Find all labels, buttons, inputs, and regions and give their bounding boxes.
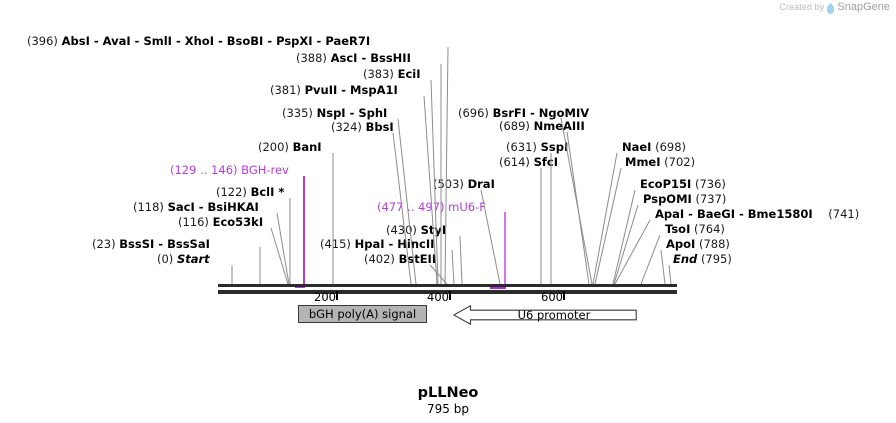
enzyme-label-row[interactable]: (118) SacI - BsiHKAI [133,201,259,214]
primer-range: (129 .. 146) [170,163,238,177]
enzyme-position: (335) [282,106,313,120]
enzyme-name: PvuII [305,83,338,97]
enzyme-name: BsrFI [493,106,526,120]
watermark-prefix: Created by [779,2,824,12]
enzyme-name: SfcI [534,155,558,169]
marker-position: (795) [701,252,732,266]
primer-range: (477 .. 497) [377,200,445,214]
enzyme-position: (396) [27,34,58,48]
enzyme-name: DraI [468,177,495,191]
leader-line [593,153,617,284]
marker-name: End [673,252,697,266]
enzyme-name: BssSaI [167,237,210,251]
marker-label-start[interactable]: (0) Start [157,253,210,266]
feature-u6-promoter[interactable]: U6 promoter [453,305,637,325]
enzyme-name: NaeI [622,140,651,154]
primer-label-bgh-rev[interactable]: (129 .. 146) BGH-rev [170,164,289,177]
leader-line [271,228,288,284]
enzyme-name: BclI * [251,185,285,199]
enzyme-label-row[interactable]: ApoI (788) [666,238,730,251]
enzyme-name: AscI [331,51,358,65]
enzyme-name: HincII [397,237,434,251]
leader-line [277,213,289,284]
enzyme-label-row[interactable]: (614) SfcI [499,156,558,169]
enzyme-label-row[interactable]: (503) DraI [433,178,495,191]
enzyme-name: NgoMIV [539,106,589,120]
enzyme-label-row[interactable]: EcoP15I (736) [640,178,726,191]
enzyme-position: (788) [699,237,730,251]
enzyme-position: (118) [133,200,164,214]
enzyme-name: NmeAIII [534,119,585,133]
enzyme-name: NspI [317,106,346,120]
enzyme-label-row[interactable]: (396) AbsI - AvaI - SmlI - XhoI - BsoBI … [27,35,370,48]
ruler-tick-mark [563,291,565,300]
enzyme-name: ApaI [655,207,684,221]
enzyme-position: (631) [506,140,537,154]
enzyme-name: StyI [421,223,447,237]
enzyme-name: ApoI [666,237,695,251]
enzyme-position: (430) [386,223,417,237]
ruler-tick-mark [449,291,451,300]
ruler-tick-mark [336,291,338,300]
enzyme-label-row[interactable]: (335) NspI - SphI [282,107,387,120]
enzyme-position: (324) [331,120,362,134]
leader-line [452,250,454,284]
enzyme-label-row[interactable]: (116) Eco53kI [178,216,263,229]
enzyme-label-row[interactable]: TsoI (764) [665,223,725,236]
leader-line [567,132,589,284]
enzyme-label-row[interactable]: NaeI (698) [622,141,686,154]
enzyme-name: BaeGI [697,207,735,221]
enzyme-label-row[interactable]: ApaI - BaeGI - Bme1580I (741) [655,208,859,221]
enzyme-name: EciI [398,67,421,81]
enzyme-label-row[interactable]: (381) PvuII - MspA1I [270,84,398,97]
enzyme-position: (415) [320,237,351,251]
enzyme-position: (689) [499,119,530,133]
enzyme-label-row[interactable]: (23) BssSI - BssSaI [92,238,210,251]
enzyme-position: (737) [695,192,726,206]
enzyme-position: (503) [433,177,464,191]
enzyme-name: BssHII [370,51,411,65]
enzyme-name: Bme1580I [748,207,813,221]
enzyme-label-row[interactable]: MmeI (702) [625,156,695,169]
marker-position: (0) [157,252,173,266]
enzyme-name: EcoP15I [640,177,691,191]
sequence-backbone-top-strand[interactable] [218,284,677,287]
enzyme-label-row[interactable]: (689) NmeAIII [499,120,585,133]
primer-label-mu6-f[interactable]: (477 .. 497) mU6-F [377,201,486,214]
enzyme-position: (23) [92,237,116,251]
ruler-tick-label: 400 [427,291,449,303]
snapgene-logo-icon [827,3,834,14]
enzyme-name: BanI [293,140,322,154]
watermark-brand: SnapGene [837,1,890,13]
enzyme-position: (696) [458,106,489,120]
enzyme-name: XhoI [185,34,214,48]
enzyme-position: (383) [363,67,394,81]
enzyme-name: BsoBI [227,34,264,48]
enzyme-position: (388) [296,51,327,65]
marker-name: Start [177,252,210,266]
enzyme-name: SphI [358,106,387,120]
enzyme-label-row[interactable]: (200) BanI [258,141,322,154]
enzyme-position: (702) [664,155,695,169]
leader-line [661,250,665,284]
enzyme-label-row[interactable]: (402) BstEII [364,253,436,266]
snapgene-watermark: Created by SnapGene [779,1,890,13]
primer-name: mU6-F [448,200,486,214]
leader-line [641,235,660,284]
leader-line [613,190,635,284]
enzyme-name: SacI [168,200,195,214]
enzyme-label-row[interactable]: (324) BbsI [331,121,394,134]
enzyme-name: HpaI [355,237,385,251]
enzyme-position: (200) [258,140,289,154]
feature-label: U6 promoter [453,305,637,325]
enzyme-position: (614) [499,155,530,169]
enzyme-name: Eco53kI [213,215,264,229]
enzyme-label-row[interactable]: (122) BclI * [216,186,284,199]
enzyme-position: (764) [694,222,725,236]
leader-line [614,205,638,284]
marker-label-end[interactable]: End (795) [673,253,732,266]
leader-line [595,168,621,284]
plasmid-map-canvas: Created by SnapGene (396) AbsI - AvaI - … [0,0,896,423]
leader-line [460,236,462,284]
enzyme-position: (381) [270,83,301,97]
leader-line [615,220,650,284]
enzyme-name: MspA1I [350,83,398,97]
enzyme-name: AvaI [103,34,131,48]
enzyme-name: SmlI [143,34,172,48]
enzyme-name: BstEII [399,252,437,266]
enzyme-name: PspOMI [643,192,692,206]
ruler-tick-label: 600 [541,291,563,303]
enzyme-label-row[interactable]: (430) StyI [386,224,446,237]
enzyme-name: TsoI [665,222,690,236]
enzyme-position: (736) [695,177,726,191]
leader-line [430,265,447,284]
enzyme-position: (741) [828,207,859,221]
feature-label: bGH poly(A) signal [309,307,416,321]
leader-line [445,47,448,284]
enzyme-name: BssSI [119,237,154,251]
enzyme-name: PspXI [276,34,312,48]
ruler-tick-label: 200 [314,291,336,303]
enzyme-position: (116) [178,215,209,229]
enzyme-name: BsiHKAI [208,200,259,214]
enzyme-label-row[interactable]: (388) AscI - BssHII [296,52,411,65]
enzyme-name: SspI [541,140,569,154]
enzyme-label-row[interactable]: PspOMI (737) [643,193,726,206]
primer-name: BGH-rev [241,163,289,177]
enzyme-name: BbsI [366,120,394,134]
enzyme-position: (698) [655,140,686,154]
enzyme-position: (402) [364,252,395,266]
enzyme-label-row[interactable]: (415) HpaI - HincII [320,238,434,251]
enzyme-name: PaeR7I [325,34,370,48]
enzyme-name: AbsI [62,34,90,48]
enzyme-label-row[interactable]: (631) SspI [506,141,568,154]
feature-bgh-polya-signal[interactable]: bGH poly(A) signal [298,305,427,323]
plasmid-size-label: 795 bp [0,402,896,416]
enzyme-position: (122) [216,185,247,199]
leader-line [669,265,671,284]
page-title: pLLNeo [0,385,896,401]
enzyme-label-row[interactable]: (383) EciI [363,68,421,81]
enzyme-name: MmeI [625,155,661,169]
